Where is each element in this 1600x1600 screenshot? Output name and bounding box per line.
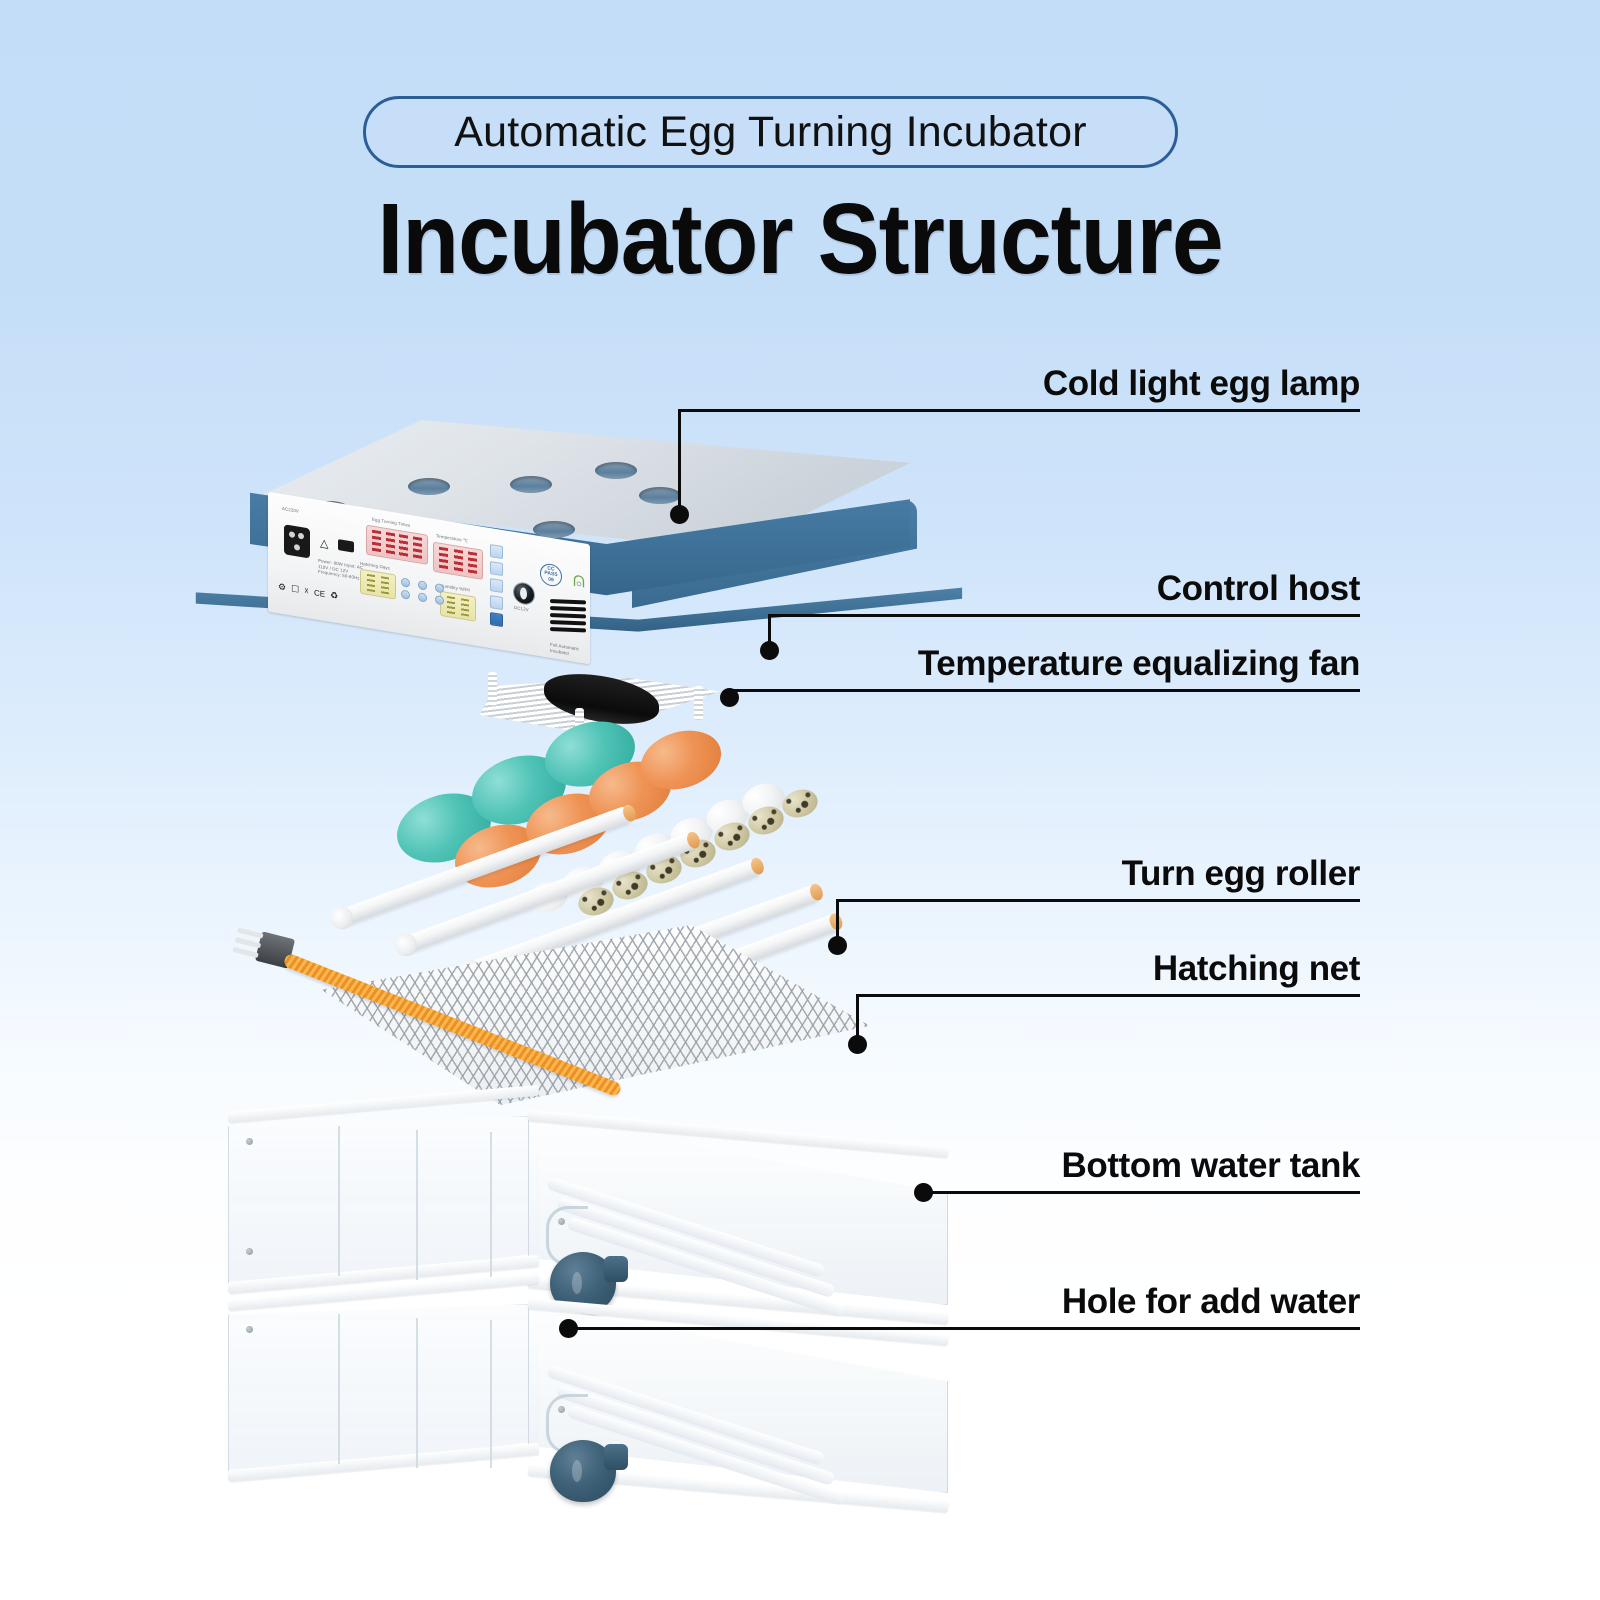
function-key[interactable] [490, 595, 503, 610]
egg-white [666, 812, 716, 855]
egg-white [524, 877, 571, 917]
roller-end-cap [392, 930, 421, 959]
tank-top-rim [228, 1273, 540, 1311]
temperature-label: Temperature ℃ [436, 533, 468, 544]
eco-tree-icon: ⍝ [573, 570, 585, 592]
recycle-icon: ♻ [330, 590, 338, 602]
roller-tip [685, 830, 702, 850]
tank-divider [490, 1132, 492, 1280]
tank-screw [558, 1218, 565, 1225]
certification-marks-row: ⚙ ☐ ☓ CE ♻ [278, 581, 338, 602]
humidity-label: Humidity %RH [440, 583, 470, 593]
tank-divider [338, 1126, 340, 1276]
tank-left-face [228, 1304, 538, 1480]
callout-label: Cold light egg lamp [1043, 364, 1360, 404]
tank-divider [416, 1130, 418, 1280]
callout-hole-for-add-water: Hole for add water [560, 1248, 1360, 1330]
tank-internal-roller [556, 1384, 836, 1486]
fuse-icon [338, 539, 354, 553]
lid-top-surface [250, 420, 910, 550]
temperature-equalizing-fan [480, 672, 720, 750]
egg-duck [537, 711, 643, 797]
humidity-display [440, 591, 476, 622]
subtitle-text: Automatic Egg Turning Incubator [454, 108, 1086, 157]
fan-mount-post [694, 686, 703, 720]
egg-white [738, 778, 788, 821]
tank-screw [246, 1138, 253, 1145]
waste-icon: ⚙ [278, 581, 286, 593]
no-bin-icon: ☓ [304, 586, 309, 598]
power-switch-icon: △ [320, 536, 328, 550]
hole-for-add-water-cap[interactable] [550, 1440, 616, 1502]
roller-tip [808, 882, 825, 902]
egg-quail [779, 785, 821, 821]
callout-control-host: Control host [760, 535, 1360, 617]
control-panel[interactable]: AC220V △ Power: 80W Input: AC 110V / DC … [268, 492, 590, 665]
keypad-button[interactable] [418, 592, 427, 602]
keypad-button[interactable] [435, 583, 444, 593]
tank-screw [558, 1406, 565, 1413]
egg-chicken [634, 721, 729, 799]
egg-white [702, 794, 752, 837]
function-key[interactable] [490, 561, 503, 576]
tank-bottom-rim [227, 1443, 539, 1482]
callout-label: Bottom water tank [1061, 1146, 1360, 1186]
ce-icon: CE [314, 588, 325, 599]
roller-tip [749, 856, 766, 876]
ac-power-socket[interactable] [284, 524, 310, 558]
egg-turning-times-label: Egg Turning Times [372, 517, 410, 529]
hatching-days-label: Hatching Days [360, 561, 390, 571]
callout-hatching-net: Hatching net [848, 915, 1360, 997]
egg-white [558, 862, 607, 904]
hatching-net [310, 925, 870, 1105]
egg-white [630, 828, 680, 871]
egg-quail [643, 851, 685, 887]
turn-egg-roller [524, 883, 821, 1005]
water-cap-strap [546, 1394, 588, 1454]
keypad-round-buttons[interactable] [401, 577, 449, 606]
callout-leader-line [836, 899, 1360, 902]
spec-text: Power: 80W Input: AC 110V / DC 12V Frequ… [318, 558, 364, 582]
callout-turn-egg-roller: Turn egg roller [828, 820, 1360, 902]
callout-anchor-dot [720, 688, 739, 707]
tank-top-rim [528, 1110, 949, 1158]
tank-divider [338, 1314, 340, 1464]
callout-anchor-dot [670, 505, 689, 524]
egg-quail [711, 818, 753, 854]
fan-motor-housing [544, 667, 659, 731]
box-icon: ☐ [291, 583, 299, 595]
tank-screw [246, 1326, 253, 1333]
egg-chicken [582, 752, 679, 831]
cold-light-egg-lamp-hole [533, 521, 575, 538]
cold-light-egg-lamp-hole [595, 462, 637, 479]
callout-leader-line [678, 409, 1360, 412]
turn-egg-roller [401, 831, 698, 953]
egg-quail [575, 883, 617, 919]
function-key-column[interactable] [490, 544, 503, 627]
cold-light-egg-lamp-hole [639, 487, 681, 504]
tank-internal-roller [566, 1404, 846, 1506]
egg-duck [463, 744, 574, 835]
roller-end-cap [328, 903, 357, 932]
heating-drive-bar [282, 952, 622, 1097]
tank-internal-roller [546, 1364, 826, 1466]
tank-left-face [228, 1116, 538, 1292]
roller-tip [621, 803, 638, 823]
function-key[interactable] [490, 578, 503, 593]
cold-light-egg-lamp-hole [510, 476, 552, 493]
temperature-display [433, 542, 483, 580]
tank-screw [246, 1248, 253, 1255]
voltage-mark: AC220V [282, 506, 299, 514]
function-key-power[interactable] [490, 612, 503, 627]
tank-top-rim [228, 1085, 540, 1123]
keypad-button[interactable] [401, 577, 410, 587]
roller-end-cap [456, 956, 485, 985]
tank-divider [416, 1318, 418, 1468]
fan-mount-post [575, 708, 584, 742]
tank-bottom-rim [227, 1255, 539, 1294]
callout-cold-light-egg-lamp: Cold light egg lamp [670, 330, 1360, 412]
vent-slots [550, 594, 586, 638]
subtitle-badge: Automatic Egg Turning Incubator [363, 96, 1178, 168]
roller-end-cap [515, 982, 544, 1011]
egg-chicken [447, 814, 549, 897]
callout-anchor-dot [914, 1183, 933, 1202]
callout-leader-line [856, 994, 1360, 997]
keypad-button[interactable] [418, 580, 427, 590]
egg-quail [677, 835, 719, 871]
fan-mount-post [488, 672, 497, 706]
brand-text: Full Automatic Incubator [550, 642, 590, 660]
heating-bar-connector [255, 931, 295, 968]
callout-label: Control host [1157, 569, 1360, 609]
egg-duck [388, 782, 499, 873]
keypad-button[interactable] [401, 589, 410, 599]
callout-leader-line [568, 1327, 1360, 1330]
cap-hinge-tab [604, 1444, 628, 1470]
egg-white [594, 845, 644, 888]
cold-light-egg-lamp-hole [308, 501, 350, 518]
keypad-button[interactable] [435, 595, 444, 605]
fan-grille-frame [480, 678, 720, 734]
callout-anchor-dot [848, 1035, 867, 1054]
turn-egg-roller [465, 857, 762, 979]
tank-bottom-rim [527, 1464, 948, 1513]
egg-quail [745, 802, 787, 838]
callout-leader-drop [678, 409, 681, 515]
callout-label: Hatching net [1153, 949, 1360, 989]
function-key[interactable] [490, 544, 503, 559]
callout-leader-line [728, 689, 1360, 692]
cold-light-egg-lamp-hole [408, 478, 450, 495]
callout-temperature-equalizing-fan: Temperature equalizing fan [720, 610, 1360, 692]
dc-power-jack[interactable] [514, 582, 534, 605]
egg-quail [609, 867, 651, 903]
callout-bottom-water-tank: Bottom water tank [915, 1112, 1360, 1194]
callout-anchor-dot [559, 1319, 578, 1338]
page-title: Incubator Structure [56, 182, 1544, 297]
tank-divider [490, 1320, 492, 1468]
dc-port-label: DC12V [514, 605, 529, 613]
turn-egg-roller [567, 913, 841, 1026]
hatching-days-display [360, 569, 396, 600]
roller-end-cap [558, 1003, 587, 1032]
egg-chicken [518, 784, 617, 865]
callout-label: Turn egg roller [1122, 854, 1360, 894]
callout-anchor-dot [828, 936, 847, 955]
callout-leader-line [923, 1191, 1360, 1194]
certification-badge: CC PASS 09 [540, 562, 562, 588]
callout-label: Hole for add water [1062, 1282, 1360, 1322]
egg-turning-times-display [366, 525, 428, 565]
turn-egg-roller [337, 804, 634, 926]
callout-label: Temperature equalizing fan [918, 644, 1360, 684]
